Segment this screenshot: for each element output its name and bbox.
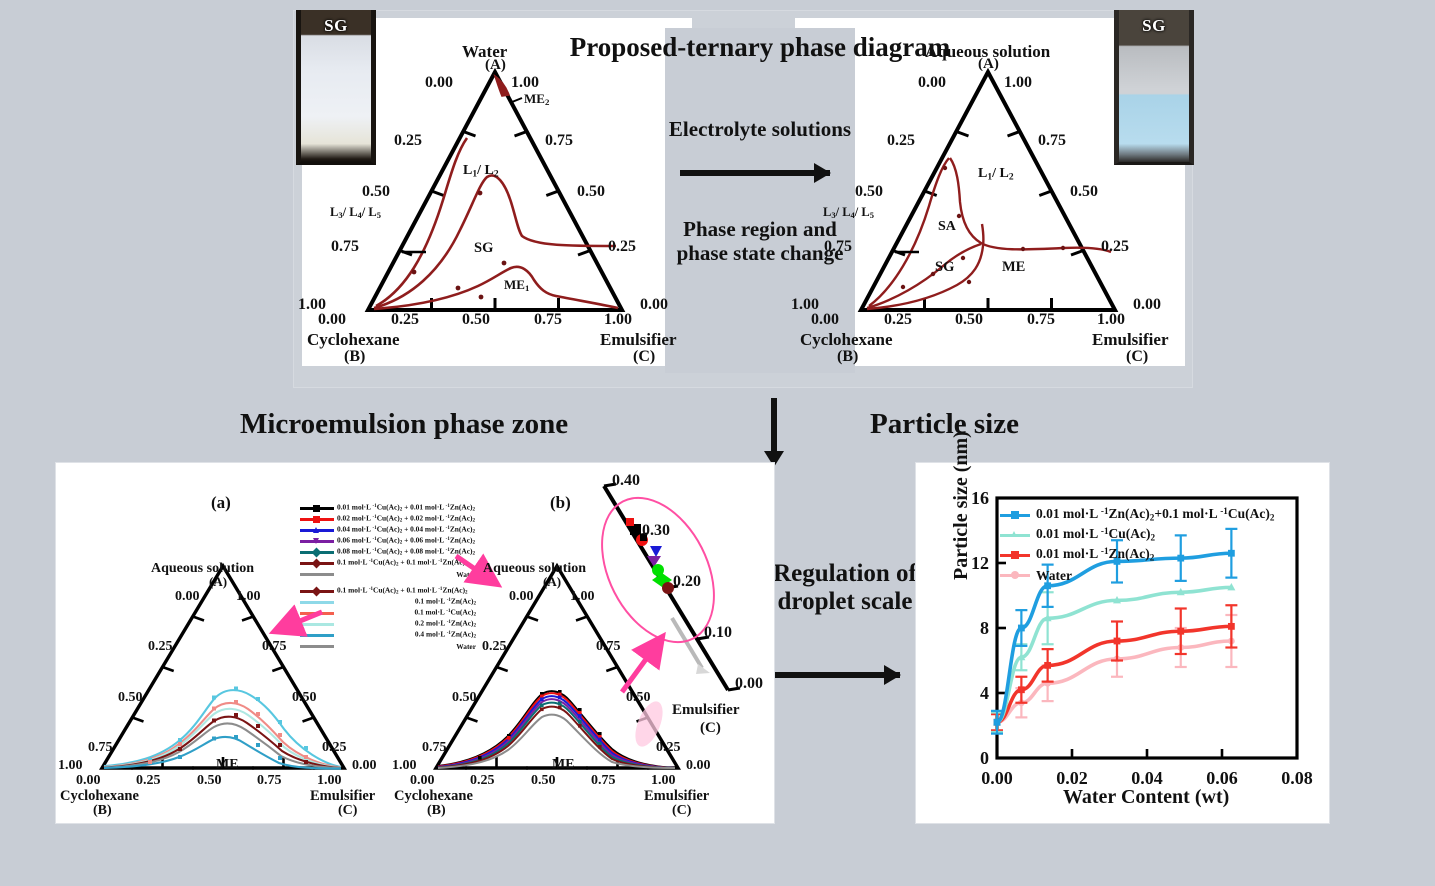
legend-swatch <box>300 573 334 576</box>
inset-corner-emulsifier: Emulsifier <box>672 702 740 719</box>
region-l1l2: L1/ L2 <box>463 163 499 179</box>
b-apex-label: Aqueous solution <box>483 561 586 577</box>
r-tick-bottom-1: 0.25 <box>884 311 912 329</box>
r-tick-bottom-4: 1.00 <box>1097 311 1125 329</box>
r-tick-bottom-3: 0.75 <box>1027 311 1055 329</box>
a-region-me: ME <box>216 757 239 773</box>
inset-tick-3: 0.10 <box>704 624 732 642</box>
chart-ytick: 8 <box>980 618 989 638</box>
b-region-me: ME <box>552 757 575 773</box>
chart-ylabel: Particle size (nm) <box>950 431 973 580</box>
b-apex-sub: (A) <box>543 574 561 590</box>
legend-swatch <box>300 518 334 521</box>
a-tick-bottom-3: 0.75 <box>257 773 282 789</box>
inset-tick-1: 0.30 <box>642 522 670 540</box>
panel-a-tag: (a) <box>211 493 231 513</box>
corner-sub-emulsifier: (C) <box>633 348 655 366</box>
chart-legend-swatch <box>1000 534 1030 537</box>
a-tick-bottom-2: 0.50 <box>197 773 222 789</box>
inset-tick-2: 0.20 <box>673 573 701 591</box>
a-tick-bottom-1: 0.25 <box>136 773 161 789</box>
inset-corner-emulsifier-sub: (C) <box>700 720 721 737</box>
chart-legend-item: 0.01 mol·L -1Cu(Ac)2 <box>1000 525 1274 545</box>
a-corner-emulsifier-sub: (C) <box>338 803 357 819</box>
tick-left-2: 0.50 <box>362 183 390 201</box>
corner-label-emulsifier: Emulsifier <box>600 330 677 350</box>
chart-legend-swatch <box>1000 514 1030 517</box>
chart-legend-swatch <box>1000 574 1030 577</box>
chart-xtick: 0.00 <box>981 768 1013 788</box>
r-tick-bottom-0: 0.00 <box>811 311 839 329</box>
b-tick-bottom-2: 0.50 <box>531 773 556 789</box>
legend-swatch <box>300 529 334 532</box>
chart-legend-item: Water <box>1000 565 1274 585</box>
b-tick-right-3: 0.25 <box>656 740 681 756</box>
a-tick-right-0: 1.00 <box>236 589 261 605</box>
r-region-l1l2: L1/ L2 <box>978 166 1014 182</box>
chart-legend-label: 0.01 mol·L -1Zn(Ac)2+0.1 mol·L -1Cu(Ac)2 <box>1036 504 1274 525</box>
r-corner-sub-cyclohexane: (B) <box>837 348 858 366</box>
chart-xtick: 0.04 <box>1131 768 1163 788</box>
figure-canvas: Electrolyte solutions Phase region and p… <box>0 0 1435 886</box>
a-corner-cyclohexane-sub: (B) <box>93 803 112 819</box>
a-tick-left-0: 0.00 <box>175 589 200 605</box>
tick-right-2: 0.50 <box>577 183 605 201</box>
tick-bottom-1: 0.25 <box>391 311 419 329</box>
section-header-microemulsion: Microemulsion phase zone <box>240 408 568 441</box>
down-arrow-icon <box>771 398 777 453</box>
chart-ytick: 4 <box>980 683 989 703</box>
corner-sub-cyclohexane: (B) <box>344 348 365 366</box>
r-tick-left-1: 0.25 <box>887 132 915 150</box>
a-tick-bottom-4: 1.00 <box>317 773 342 789</box>
a-apex-label: Aqueous solution <box>151 561 254 577</box>
b-tick-left-0: 0.00 <box>509 589 534 605</box>
b-tick-bottom-0: 0.00 <box>410 773 435 789</box>
a-tick-left-1: 0.25 <box>148 639 173 655</box>
pink-arrow-icon-inset <box>612 630 682 700</box>
inset-tick-4: 0.00 <box>735 675 763 693</box>
r-region-l3l4l5: L3/ L4/ L5 <box>823 205 874 220</box>
section-header-particle-size: Particle size <box>870 408 1019 441</box>
chart-xlabel: Water Content (wt) <box>1063 786 1229 809</box>
legend-swatch <box>300 590 334 593</box>
a-tick-left-2: 0.50 <box>118 690 143 706</box>
b-tick-bottom-3: 0.75 <box>591 773 616 789</box>
chart-ytick: 16 <box>971 488 989 508</box>
corner-label-cyclohexane: Cyclohexane <box>307 330 400 350</box>
vial-label-left: SG <box>301 16 371 36</box>
chart-series <box>991 615 1237 730</box>
chart-legend-swatch <box>1000 554 1030 557</box>
region-me1: ME1 <box>504 277 529 293</box>
r-region-sa: SA <box>938 219 956 235</box>
r-region-sg: SG <box>935 259 954 276</box>
r-tick-left-2: 0.50 <box>855 183 883 201</box>
b-tick-left-3: 0.75 <box>422 740 447 756</box>
right-arrow-icon <box>680 170 830 176</box>
legend-swatch <box>300 551 334 554</box>
r-tick-right-1: 0.75 <box>1038 132 1066 150</box>
pink-arrow-icon-a <box>268 602 328 642</box>
b-tick-left-2: 0.50 <box>452 690 477 706</box>
tick-bottom-2: 0.50 <box>462 311 490 329</box>
chart-ytick: 12 <box>971 553 989 573</box>
tick-right-3: 0.25 <box>608 238 636 256</box>
r-tick-right-2: 0.50 <box>1070 183 1098 201</box>
chart-xtick: 0.08 <box>1281 768 1313 788</box>
r-tick-left-0: 0.00 <box>918 74 946 92</box>
a-tick-left-4: 1.00 <box>58 758 83 774</box>
region-l3l4l5: L3/ L4/ L5 <box>330 205 381 220</box>
chart-legend-item: 0.01 mol·L -1Zn(Ac)2 <box>1000 545 1274 565</box>
tick-right-1: 0.75 <box>545 132 573 150</box>
chart-legend: 0.01 mol·L -1Zn(Ac)2+0.1 mol·L -1Cu(Ac)2… <box>1000 505 1274 585</box>
chart-legend-item: 0.01 mol·L -1Zn(Ac)2+0.1 mol·L -1Cu(Ac)2 <box>1000 505 1274 525</box>
chart-xtick: 0.06 <box>1206 768 1238 788</box>
a-apex-sub: (A) <box>209 574 227 590</box>
r-tick-right-3: 0.25 <box>1101 238 1129 256</box>
legend-swatch <box>300 540 334 543</box>
r-tick-right-4: 0.00 <box>1133 296 1161 314</box>
legend-swatch <box>300 645 334 648</box>
r-region-me: ME <box>1002 259 1025 276</box>
region-sg: SG <box>474 240 493 257</box>
b-tick-bottom-1: 0.25 <box>470 773 495 789</box>
panel-b-tag: (b) <box>550 493 571 513</box>
apex-sub-aqueous: (A) <box>978 56 999 73</box>
inset-tick-0: 0.40 <box>612 472 640 490</box>
a-tick-left-3: 0.75 <box>88 740 113 756</box>
region-me2: ME2 <box>524 91 549 107</box>
chart-ytick: 0 <box>980 748 989 768</box>
b-corner-cyclohexane-sub: (B) <box>427 803 446 819</box>
tick-left-1: 0.25 <box>394 132 422 150</box>
r-corner-label-emulsifier: Emulsifier <box>1092 330 1169 350</box>
r-corner-label-cyclohexane: Cyclohexane <box>800 330 893 350</box>
tick-left-3: 0.75 <box>331 238 359 256</box>
chart-legend-label: 0.01 mol·L -1Zn(Ac)2 <box>1036 544 1154 565</box>
b-tick-left-4: 1.00 <box>392 758 417 774</box>
vial-label-right: SG <box>1119 16 1189 36</box>
a-tick-right-3: 0.25 <box>322 740 347 756</box>
tick-left-0: 0.00 <box>425 74 453 92</box>
r-tick-bottom-2: 0.50 <box>955 311 983 329</box>
b-tick-bottom-4: 1.00 <box>651 773 676 789</box>
tick-right-0: 1.00 <box>511 74 539 92</box>
right-arrow-icon-bottom <box>775 672 900 678</box>
a-tick-bottom-0: 0.00 <box>76 773 101 789</box>
legend-swatch <box>300 562 334 565</box>
tick-bottom-0: 0.00 <box>318 311 346 329</box>
b-tick-right-4: 0.00 <box>686 758 711 774</box>
tick-bottom-3: 0.75 <box>534 311 562 329</box>
apex-sub-water: (A) <box>485 57 506 74</box>
b-corner-emulsifier-sub: (C) <box>672 803 691 819</box>
chart-legend-label: 0.01 mol·L -1Cu(Ac)2 <box>1036 524 1155 545</box>
a-tick-right-2: 0.50 <box>292 690 317 706</box>
r-tick-left-3: 0.75 <box>824 238 852 256</box>
section-header-regulation: Regulation of droplet scale <box>765 560 925 616</box>
r-corner-sub-emulsifier: (C) <box>1126 348 1148 366</box>
r-tick-right-0: 1.00 <box>1004 74 1032 92</box>
chart-xtick: 0.02 <box>1056 768 1088 788</box>
tick-bottom-4: 1.00 <box>604 311 632 329</box>
a-tick-right-4: 0.00 <box>352 758 377 774</box>
chart-legend-label: Water <box>1036 568 1072 583</box>
b-tick-left-1: 0.25 <box>482 639 507 655</box>
tick-right-4: 0.00 <box>640 296 668 314</box>
legend-swatch <box>300 507 334 510</box>
